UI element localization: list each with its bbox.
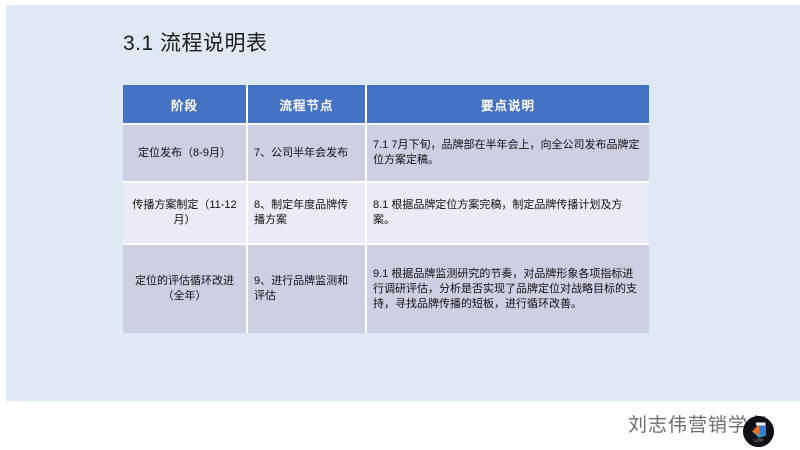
cell-stage: 定位发布（8-9月） [123,124,247,182]
cell-node: 7、公司半年会发布 [247,124,366,182]
table-row: 定位发布（8-9月） 7、公司半年会发布 7.1 7月下旬，品牌部在半年会上，向… [123,124,649,182]
cell-detail: 8.1 根据品牌定位方案完稿，制定品牌传播计划及方案。 [366,182,649,244]
cell-node: 8、制定年度品牌传播方案 [247,182,366,244]
svg-text:LZW: LZW [754,438,763,443]
process-description-table: 阶段 流程节点 要点说明 定位发布（8-9月） 7、公司半年会发布 7.1 7月… [123,85,649,333]
cell-detail: 7.1 7月下旬，品牌部在半年会上，向全公司发布品牌定位方案定稿。 [366,124,649,182]
cell-stage: 定位的评估循环改进（全年） [123,244,247,333]
column-header-detail: 要点说明 [366,85,649,124]
page-title: 3.1 流程说明表 [123,31,268,57]
cell-node: 9、进行品牌监测和评估 [247,244,366,333]
table-row: 传播方案制定（11-12月） 8、制定年度品牌传播方案 8.1 根据品牌定位方案… [123,182,649,244]
cell-detail: 9.1 根据品牌监测研究的节奏，对品牌形象各项指标进行调研评估，分析是否实现了品… [366,244,649,333]
slide-root: 3.1 流程说明表 阶段 流程节点 要点说明 定位发布（8-9月） 7、公司半年… [0,0,800,450]
column-header-stage: 阶段 [123,85,247,124]
brand-logo-icon: LZW [743,416,774,447]
cell-stage: 传播方案制定（11-12月） [123,182,247,244]
table-row: 定位的评估循环改进（全年） 9、进行品牌监测和评估 9.1 根据品牌监测研究的节… [123,244,649,333]
watermark: 刘志伟营销学者 LZW [628,406,768,446]
table-header-row: 阶段 流程节点 要点说明 [123,85,649,124]
column-header-node: 流程节点 [247,85,366,124]
